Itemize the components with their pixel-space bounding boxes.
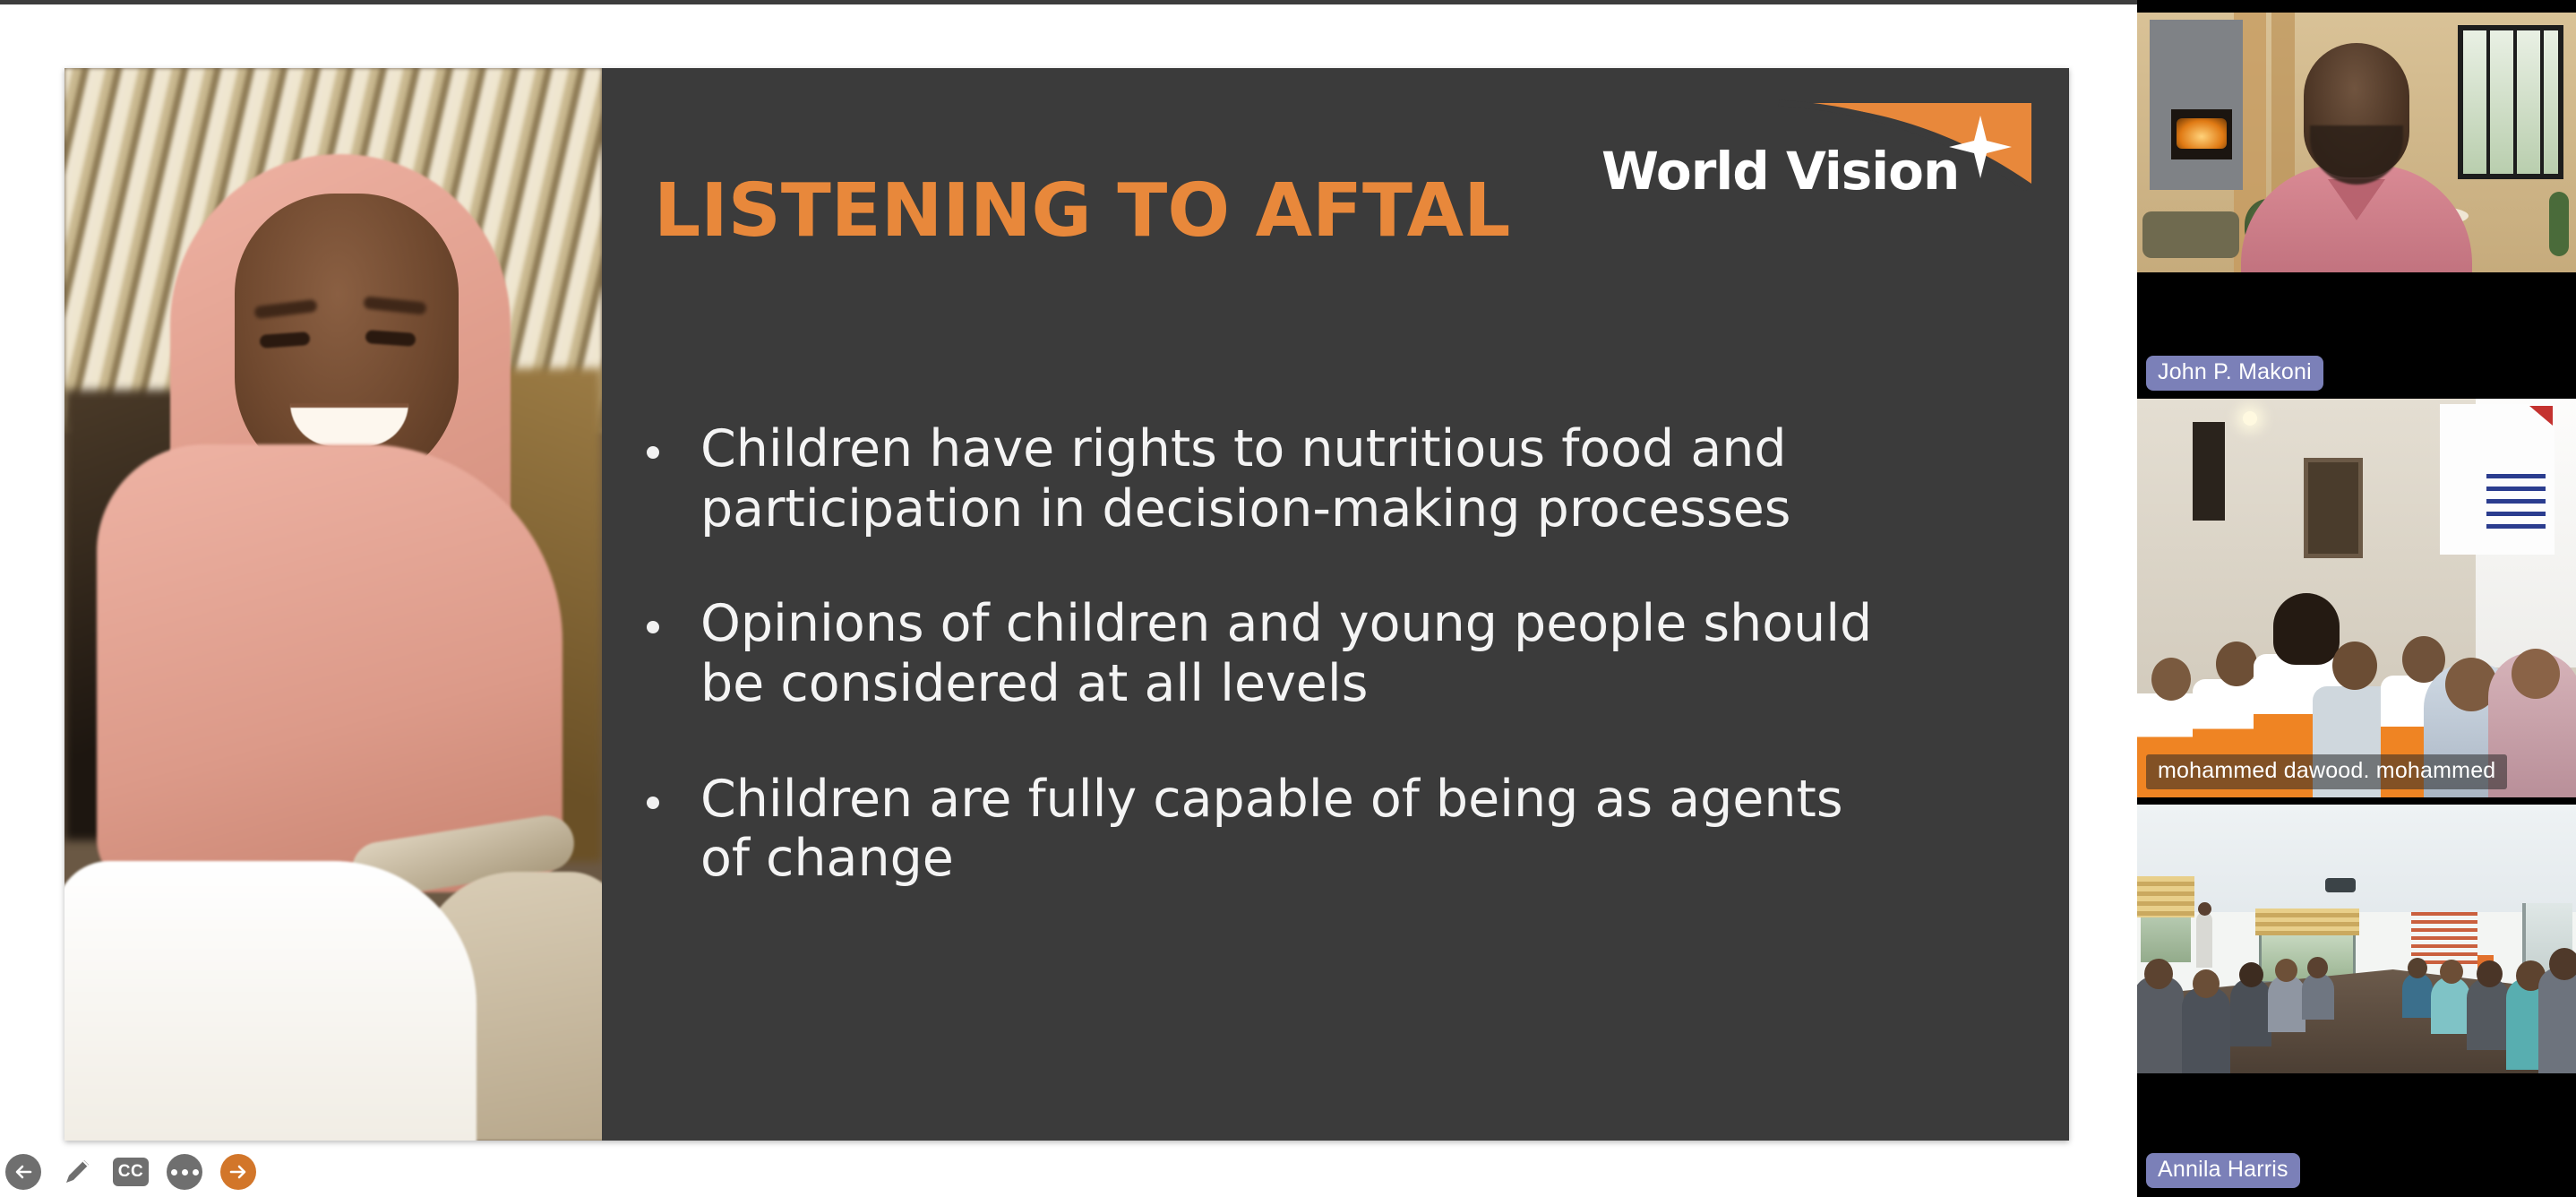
standing-presenter [2196, 912, 2212, 968]
window-blind-center [2255, 909, 2359, 935]
participant-tile[interactable]: John P. Makoni [2137, 0, 2576, 399]
virtual-background-sofa [2142, 211, 2239, 258]
seated-attendee [2230, 978, 2271, 1046]
presentation-slide[interactable]: World Vision LISTENING TO AFTAL Children… [64, 68, 2069, 1141]
ceiling-projector [2325, 878, 2356, 892]
slide-bullet-item: Children have rights to nutritious food … [647, 419, 2015, 538]
attendee-head [2408, 958, 2427, 978]
window-mullions [2463, 30, 2558, 174]
attendee-head [2549, 948, 2576, 980]
virtual-background-fireplace [2150, 20, 2243, 190]
slide-bullet-item: Opinions of children and young people sh… [647, 594, 2015, 713]
attendee-head [2193, 969, 2220, 998]
photo-goat-body [64, 861, 477, 1141]
world-vision-wordmark: World Vision [1601, 141, 2031, 202]
seated-attendee [2182, 987, 2230, 1073]
participant-name-badge: Annila Harris [2146, 1153, 2300, 1188]
seated-attendee [2268, 975, 2306, 1032]
participant-tile[interactable]: Annila Harris [2137, 797, 2576, 1196]
participant-video [2137, 805, 2576, 1073]
wall-text-graphic [2411, 912, 2477, 964]
presenter-head [2198, 902, 2211, 916]
bullet-dot-icon [647, 446, 659, 459]
attendee-head [2440, 960, 2463, 984]
participant-tile[interactable]: mohammed dawood. mohammed [2137, 399, 2576, 797]
more-options-icon [167, 1154, 202, 1190]
seated-attendee [2431, 977, 2470, 1034]
slide-body: World Vision LISTENING TO AFTAL Children… [602, 68, 2069, 1141]
seated-attendee [2402, 973, 2433, 1018]
attendee-head [2332, 642, 2377, 690]
room-inner-door [2304, 458, 2363, 558]
attendee-head [2239, 962, 2263, 987]
ceiling-light [2243, 411, 2257, 426]
more-options-button[interactable] [167, 1154, 202, 1190]
seated-attendee [2538, 968, 2576, 1073]
attendee-head [2144, 959, 2173, 989]
window-blind-left [2137, 876, 2194, 917]
forward-arrow-icon [220, 1154, 256, 1190]
attendee-face [2512, 649, 2560, 699]
previous-slide-button[interactable] [5, 1154, 41, 1190]
participant-name-badge: mohammed dawood. mohammed [2146, 754, 2507, 789]
back-arrow-icon [5, 1154, 41, 1190]
room-doorway [2193, 422, 2225, 521]
meeting-screen-share-window: World Vision LISTENING TO AFTAL Children… [0, 0, 2576, 1197]
annotate-button[interactable] [59, 1154, 95, 1190]
bullet-dot-icon [647, 797, 659, 809]
slide-title: LISTENING TO AFTAL [654, 168, 1510, 254]
participant-video [2137, 13, 2576, 272]
attendee-head [2151, 658, 2191, 701]
bullet-text: Children have rights to nutritious food … [700, 419, 1892, 538]
virtual-background-cactus [2549, 192, 2569, 256]
world-vision-logo: World Vision [1601, 90, 2031, 207]
slide-bullet-item: Children are fully capable of being as a… [647, 770, 2015, 889]
attendee-head [2275, 959, 2297, 982]
seated-attendee [2467, 978, 2510, 1050]
virtual-background-fire [2177, 118, 2227, 149]
seated-attendee [2302, 973, 2334, 1020]
next-slide-button[interactable] [220, 1154, 256, 1190]
slide-photo [64, 68, 602, 1141]
attendee-head [2307, 957, 2328, 978]
closed-captions-icon: CC [113, 1158, 149, 1186]
attendee-head [2216, 642, 2257, 686]
participant-filmstrip: John P. Makoni [2137, 0, 2576, 1197]
participant-name-badge: John P. Makoni [2146, 356, 2323, 391]
slide-bullet-list: Children have rights to nutritious food … [647, 419, 2015, 889]
closed-captions-button[interactable]: CC [113, 1154, 149, 1190]
presentation-toolbar: CC [5, 1150, 256, 1193]
pencil-icon [60, 1153, 94, 1192]
bullet-text: Children are fully capable of being as a… [700, 770, 1892, 889]
participant-video [2137, 399, 2576, 797]
attendee-head [2273, 593, 2340, 665]
bullet-dot-icon [647, 621, 659, 633]
virtual-background-window [2458, 25, 2563, 179]
seated-attendee [2137, 977, 2184, 1073]
bullet-text: Opinions of children and young people sh… [700, 594, 1892, 713]
shared-content-stage: World Vision LISTENING TO AFTAL Children… [0, 4, 2137, 1197]
banner-text-lines [2486, 474, 2546, 531]
attendee-head [2477, 960, 2503, 987]
